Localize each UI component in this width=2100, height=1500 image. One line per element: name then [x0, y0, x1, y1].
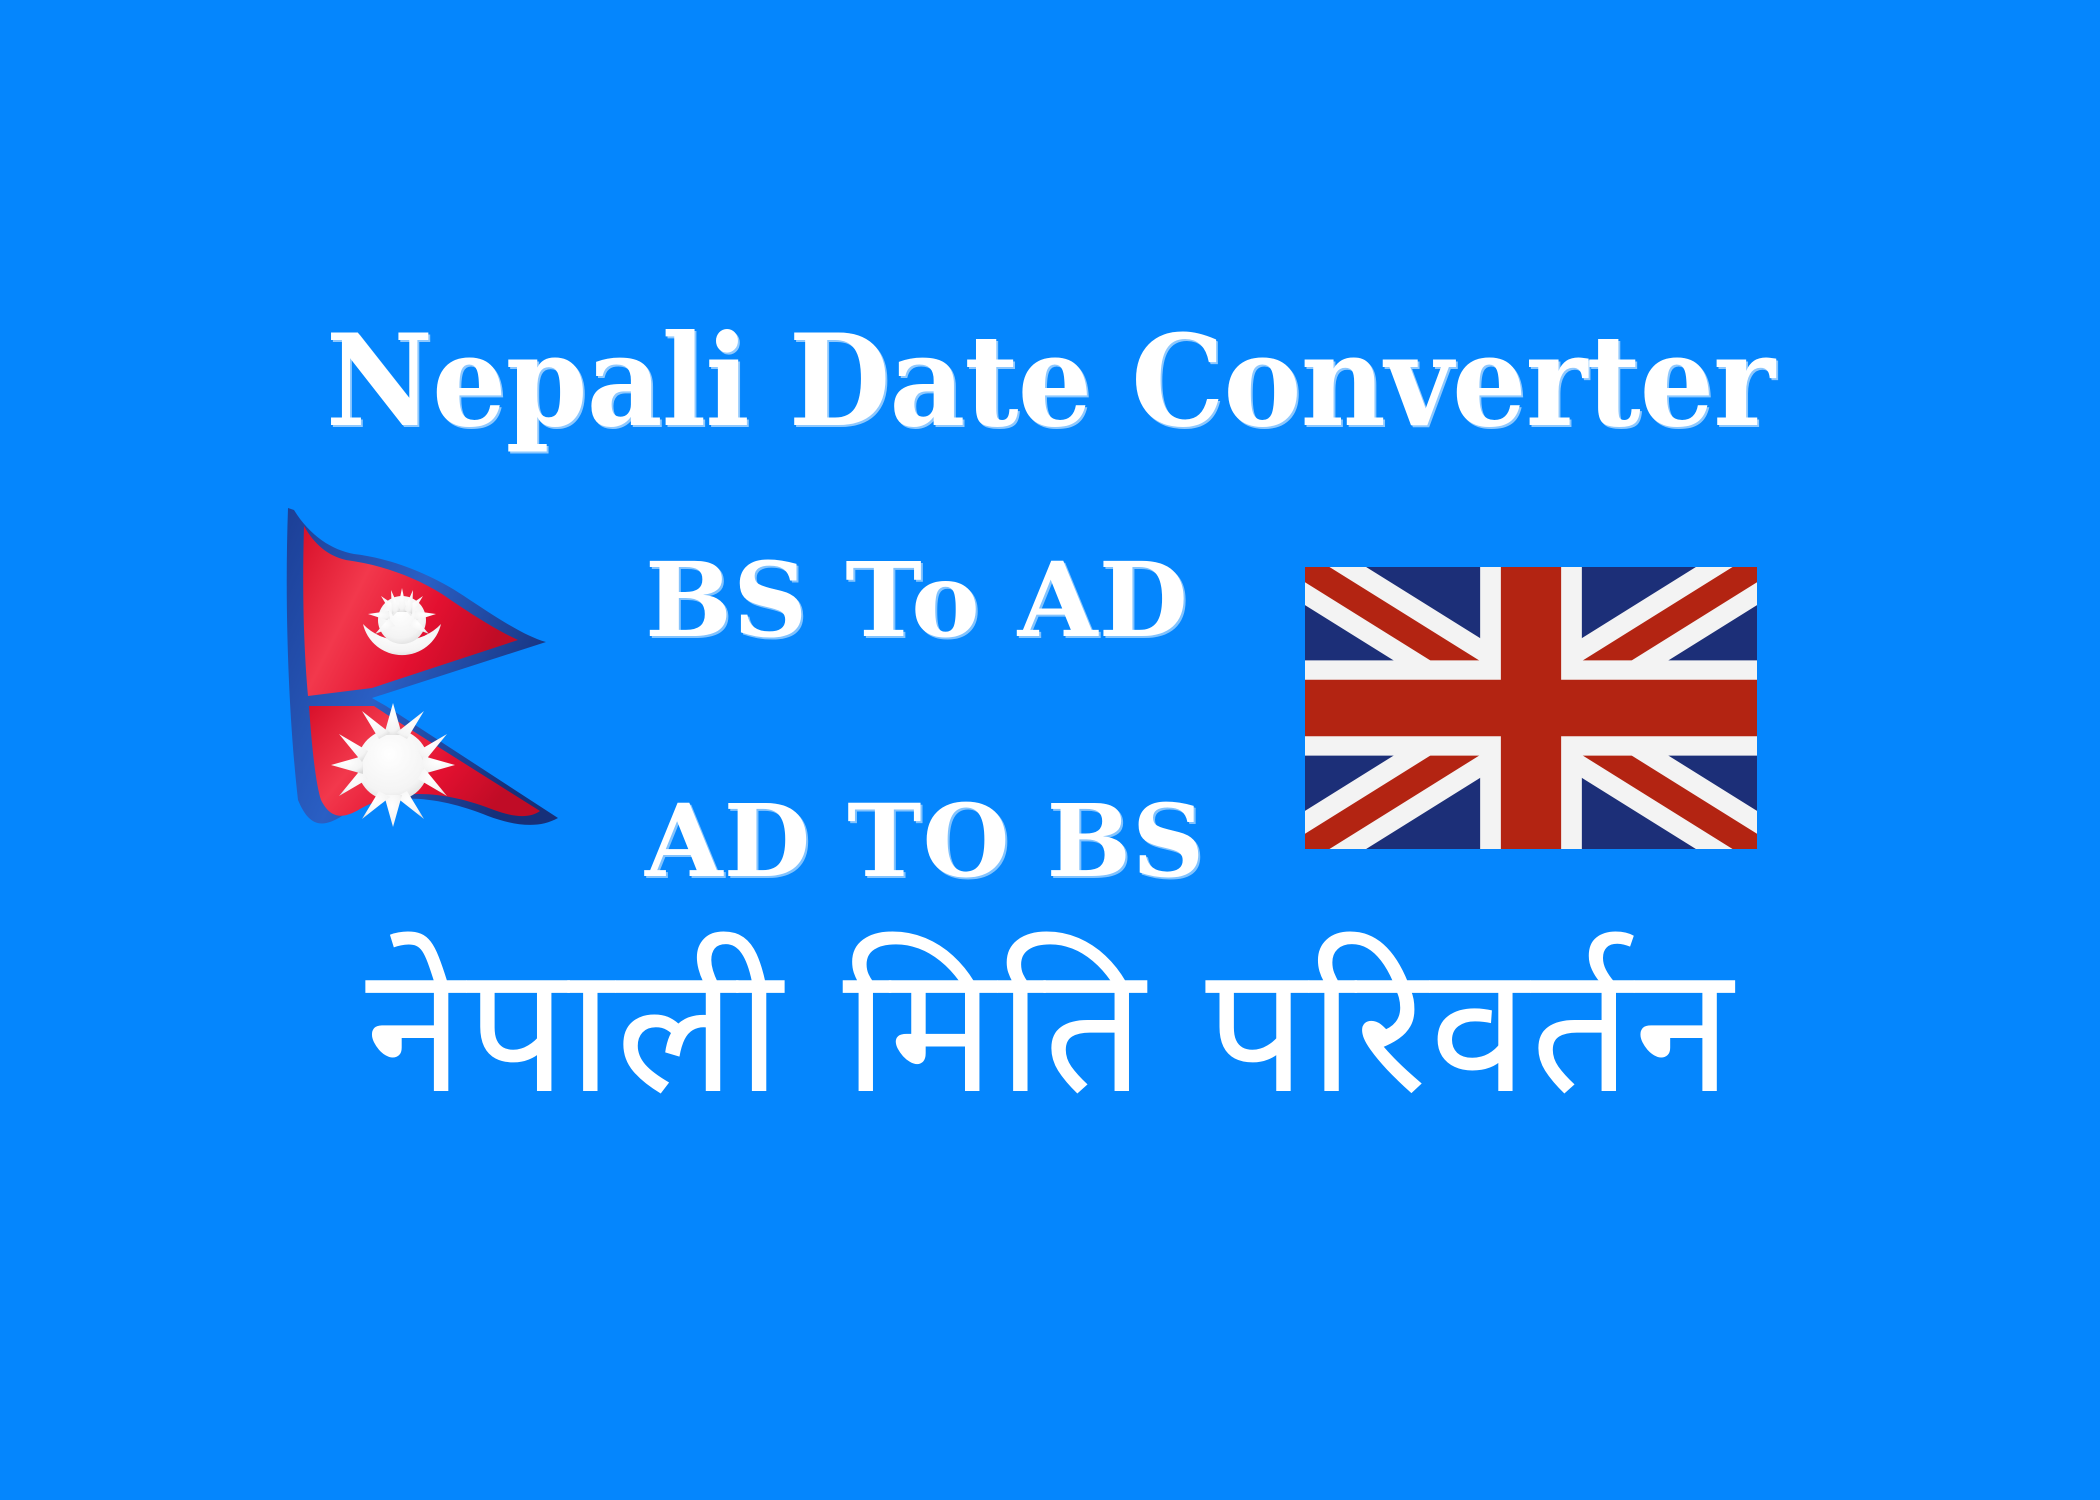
poster-canvas: Nepali Date Converter — [0, 0, 2100, 1500]
conversion-row: BS To AD AD TO BS — [0, 495, 2100, 865]
page-title: Nepali Date Converter — [74, 318, 2027, 444]
nepali-subtitle: नेपाली मिति परिवर्तन — [0, 930, 2100, 1130]
label-ad-to-bs: AD TO BS — [645, 788, 1205, 894]
label-bs-to-ad: BS To AD — [645, 547, 1189, 655]
union-jack-flag-icon — [1305, 567, 1757, 849]
nepal-flag-icon — [268, 500, 598, 855]
